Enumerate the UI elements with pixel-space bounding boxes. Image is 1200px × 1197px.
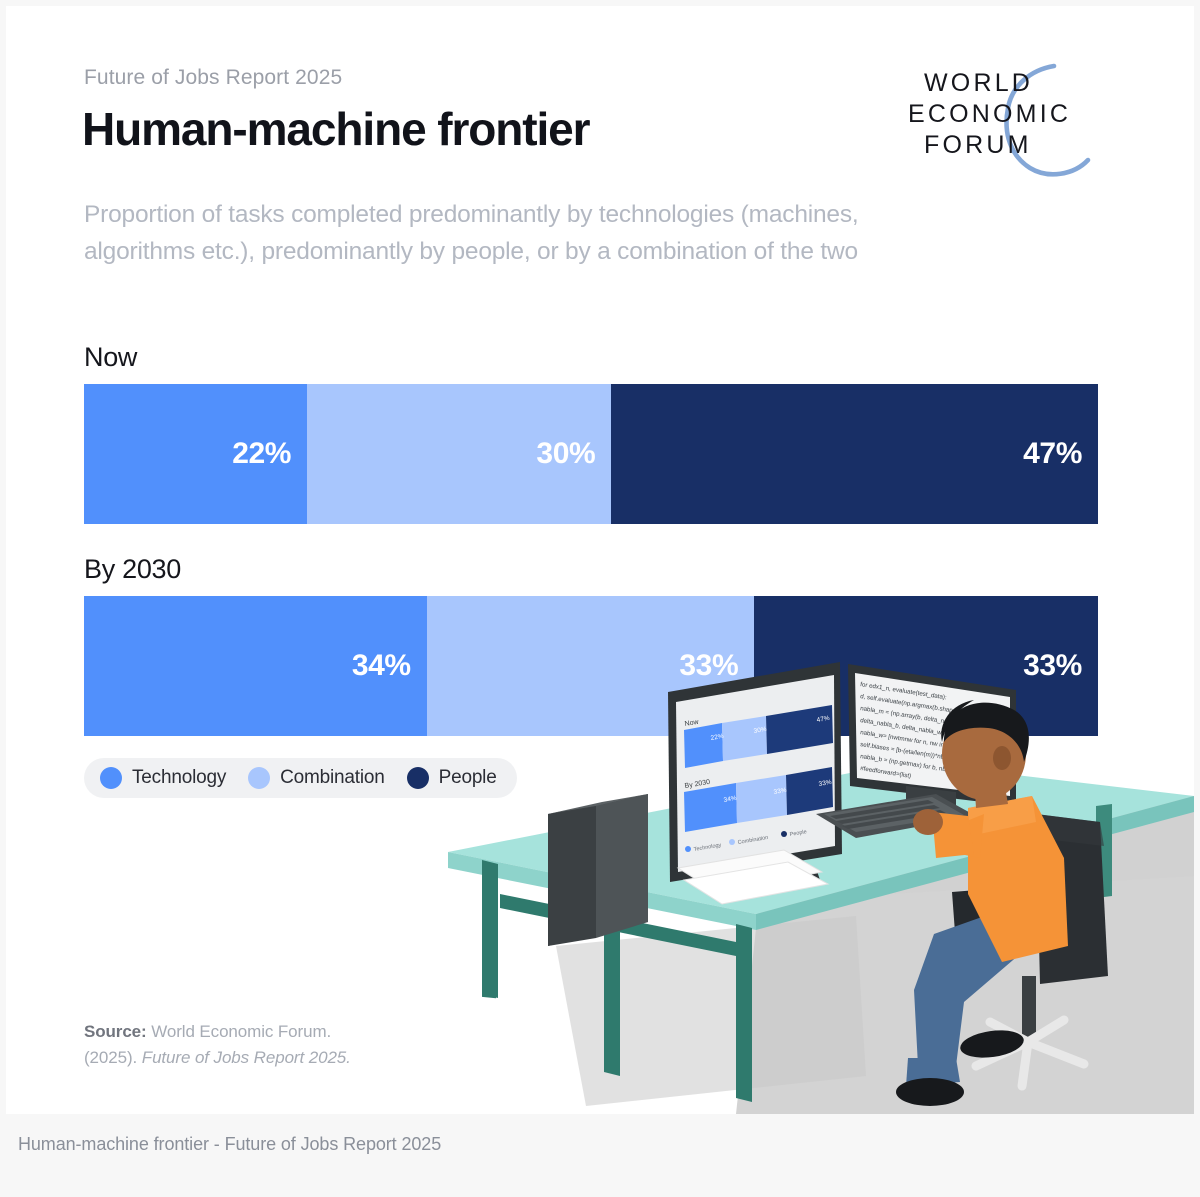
bar-value-now-combination: 30%	[536, 437, 595, 471]
bar-group-label-now: Now	[84, 342, 137, 373]
desk-illustration: Now 22% 30% 47% By 2030 34% 33%	[436, 646, 1194, 1114]
person-hand	[913, 809, 943, 835]
bar-segment-now-technology[interactable]: 22%	[84, 384, 307, 524]
person-shoe-front	[896, 1078, 964, 1106]
bar-segment-2030-technology[interactable]: 34%	[84, 596, 427, 736]
wef-logo-line-3: FORUM	[924, 130, 1032, 161]
legend-item-combination[interactable]: Combination	[248, 767, 384, 789]
wef-logo-line-2: ECONOMIC	[908, 99, 1071, 130]
page-title: Human-machine frontier	[82, 102, 589, 156]
desk-leg-front-right	[736, 924, 752, 1102]
source-org: World Economic Forum.	[151, 1022, 331, 1041]
infographic-root: Future of Jobs Report 2025 Human-machine…	[0, 0, 1200, 1197]
legend-item-people[interactable]: People	[407, 767, 497, 789]
source-prefix: Source:	[84, 1022, 147, 1041]
legend-item-technology[interactable]: Technology	[100, 767, 226, 789]
source-note: Source: World Economic Forum. (2025). Fu…	[84, 1019, 444, 1071]
desk-illustration-svg: Now 22% 30% 47% By 2030 34% 33%	[436, 646, 1194, 1114]
legend-label-technology: Technology	[132, 767, 226, 789]
pc-tower-side	[548, 806, 596, 946]
bar-value-now-people: 47%	[1023, 437, 1082, 471]
stacked-bar-now: 22% 30% 47%	[84, 384, 1098, 524]
legend-label-combination: Combination	[280, 767, 384, 789]
bar-value-now-technology: 22%	[232, 437, 291, 471]
source-year: (2025).	[84, 1048, 137, 1067]
page-subtitle: Proportion of tasks completed predominan…	[84, 196, 874, 270]
wef-logo: WORLD ECONOMIC FORUM	[902, 60, 1112, 180]
legend-label-people: People	[439, 767, 497, 789]
bar-segment-now-combination[interactable]: 30%	[307, 384, 611, 524]
legend-dot-combination-icon	[248, 767, 270, 789]
source-publication: Future of Jobs Report 2025.	[142, 1048, 351, 1067]
bar-segment-now-people[interactable]: 47%	[611, 384, 1098, 524]
wef-logo-line-1: WORLD	[924, 68, 1033, 99]
legend-dot-people-icon	[407, 767, 429, 789]
bar-group-label-by-2030: By 2030	[84, 554, 181, 585]
chart-legend: Technology Combination People	[84, 758, 517, 798]
legend-dot-technology-icon	[100, 767, 122, 789]
eyebrow-label: Future of Jobs Report 2025	[84, 66, 342, 90]
infographic-card: Future of Jobs Report 2025 Human-machine…	[6, 6, 1194, 1114]
person-ear	[993, 746, 1011, 770]
bottom-caption: Human-machine frontier - Future of Jobs …	[18, 1134, 441, 1155]
bar-value-2030-technology: 34%	[352, 649, 411, 683]
